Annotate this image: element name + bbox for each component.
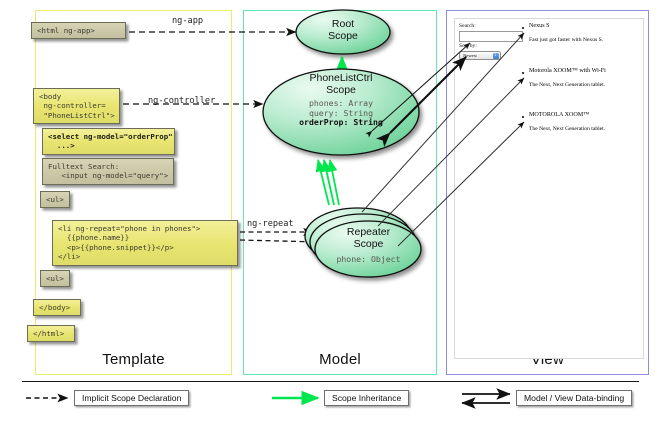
view-browser-pane: Search: Sort by: Newest Nexus S Fast jus… [454,18,644,359]
view-phone-name: MOTOROLA XOOM™ [529,112,589,118]
view-phone-snippet: Fast just got faster with Nexus S. [529,37,603,43]
legend-item-scope-inheritance: Scope Inheritance [324,390,409,406]
edge-label-ng-app: ng-app [172,16,203,26]
code-box-li-ng-repeat: <li ng-repeat="phone in phones"> {{phone… [52,220,238,266]
legend-item-model-view-data-binding: Model / View Data-binding [516,390,632,406]
legend-divider [22,381,639,382]
diagram-canvas: Template Model View <html ng-app> <body … [0,0,661,425]
view-phone-snippet: The Next, Next Generation tablet. [529,82,605,88]
edge-label-ng-controller: ng-controller [148,96,215,106]
code-box-select: <select ng-model="orderProp" ...> [42,128,175,155]
code-box-html-close: </html> [27,325,75,342]
view-search-input[interactable] [459,31,523,42]
view-phone-name: Nexus S [529,23,549,29]
code-box-ul-close: <ul> [40,270,70,287]
column-title-template: Template [36,351,231,368]
view-search-label: Search: [459,23,476,29]
legend-arrow-databinding [462,394,510,403]
view-phone-name: Motorola XOOM™ with Wi-Fi [529,68,606,74]
code-box-body-close: </body> [33,299,81,316]
chevron-updown-icon [493,53,499,59]
code-box-fulltext-search: Fulltext Search: <input ng-model="query"… [42,158,174,185]
view-sort-select[interactable]: Newest [459,51,501,60]
column-model: Model [243,10,437,375]
legend-item-implicit-scope-declaration: Implicit Scope Declaration [74,390,189,406]
view-sort-label: Sort by: [459,43,477,49]
bullet-icon [522,27,524,29]
bullet-icon [522,116,524,118]
code-box-ul-open: <ul> [40,191,70,208]
edge-label-ng-repeat: ng-repeat [247,219,294,229]
view-sort-selected-value: Newest [463,53,477,58]
column-title-model: Model [244,351,436,368]
view-phone-snippet: The Next, Next Generation tablet. [529,126,605,132]
code-box-html-open: <html ng-app> [31,22,126,39]
bullet-icon [522,72,524,74]
code-box-body-open: <body ng-controller= "PhoneListCtrl"> [33,88,120,124]
